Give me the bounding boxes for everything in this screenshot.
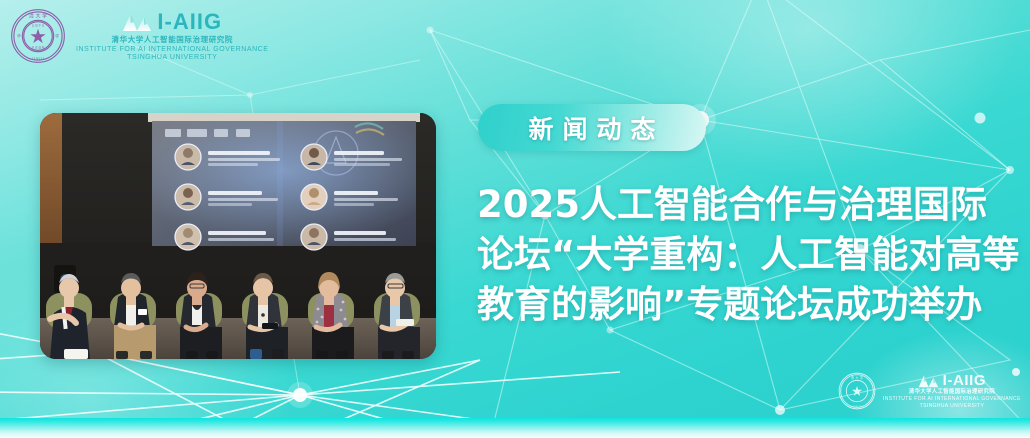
svg-text:"1911": "1911" <box>853 405 861 408</box>
svg-text:华: 华 <box>17 34 21 39</box>
svg-text:清 大 学: 清 大 学 <box>29 13 47 20</box>
institute-name-en-line2: TSINGHUA UNIVERSITY <box>920 404 985 409</box>
svg-text:"1911": "1911" <box>32 57 45 61</box>
institute-name-cn: 清华大学人工智能国际治理研究院 <box>909 390 995 395</box>
event-photo-illustration <box>40 113 436 359</box>
institute-name-cn: 清华大学人工智能国际治理研究院 <box>112 36 234 44</box>
iaiig-wordmark: I-AIIG <box>157 11 222 33</box>
brand-footer-text: I-AIIG 清华大学人工智能国际治理研究院 INSTITUTE FOR AI … <box>883 373 1021 408</box>
iaiig-mountain-mark <box>122 12 152 32</box>
iaiig-logo-row: I-AIIG <box>918 373 987 388</box>
iaiig-wordmark: I-AIIG <box>943 373 987 388</box>
institute-name-en-line2: TSINGHUA UNIVERSITY <box>127 54 217 61</box>
brand-header-lockup: 清 大 学 "1911" 华 学 自 强 不 息 厚 德 载 物 <box>10 8 269 64</box>
category-badge[interactable]: 新闻动态 <box>478 104 706 151</box>
svg-text:学: 学 <box>55 34 59 39</box>
svg-text:厚 德 载 物: 厚 德 载 物 <box>32 45 45 49</box>
category-badge-label: 新闻动态 <box>519 110 664 146</box>
brand-footer-lockup: 清 大 学 "1911" I-AIIG 清华大学人工智能国际治理研究院 INST… <box>838 372 1021 410</box>
svg-text:自 强 不 息: 自 强 不 息 <box>32 23 45 27</box>
iaiig-mountain-mark <box>918 374 939 388</box>
event-photo <box>40 113 436 359</box>
glow-top-right <box>600 0 1020 180</box>
institute-name-en-line1: INSTITUTE FOR AI INTERNATIONAL GOVERNANC… <box>883 397 1021 402</box>
svg-text:清 大 学: 清 大 学 <box>851 375 864 380</box>
iaiig-logo-row: I-AIIG <box>122 11 222 33</box>
bottom-light-band <box>0 418 1030 438</box>
news-banner: 清 大 学 "1911" 华 学 自 强 不 息 厚 德 载 物 <box>0 0 1030 438</box>
headline-title: 2025人工智能合作与治理国际论坛“大学重构：人工智能对高等教育的影响”专题论坛… <box>477 180 1022 330</box>
institute-name-en-line1: INSTITUTE FOR AI INTERNATIONAL GOVERNANC… <box>76 46 269 53</box>
tsinghua-university-seal: 清 大 学 "1911" 华 学 自 强 不 息 厚 德 载 物 <box>10 8 66 64</box>
tsinghua-university-seal: 清 大 学 "1911" <box>838 372 876 410</box>
brand-header-text: I-AIIG 清华大学人工智能国际治理研究院 INSTITUTE FOR AI … <box>76 11 269 61</box>
